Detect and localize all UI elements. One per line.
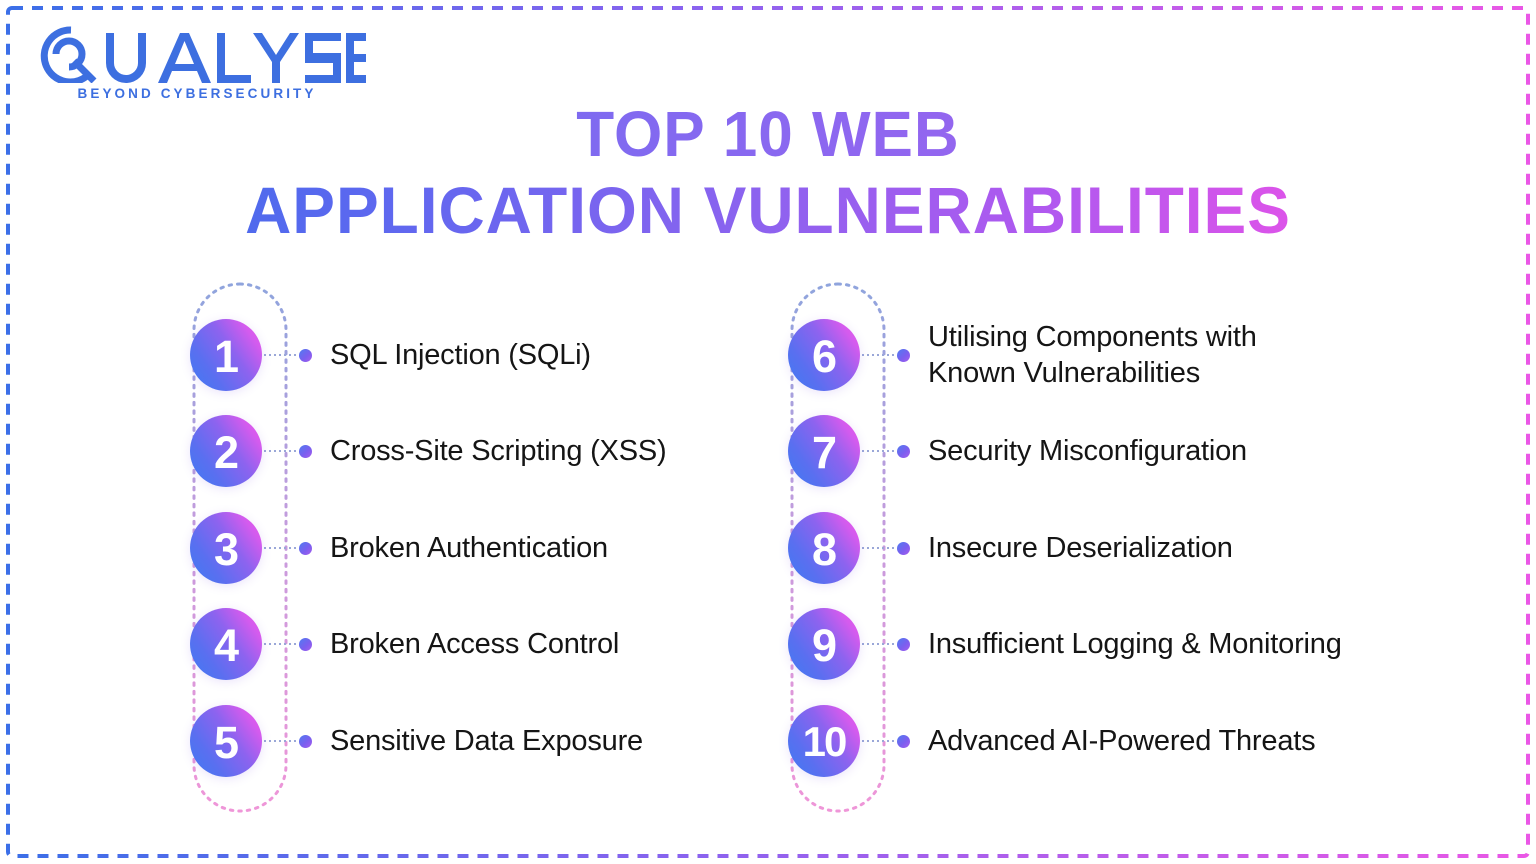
item-number: 7	[812, 430, 836, 475]
item-number: 3	[214, 527, 238, 572]
item-number: 5	[214, 720, 238, 765]
logo-wordmark	[34, 26, 374, 82]
connector-line	[264, 444, 312, 458]
item-label: Security Misconfiguration	[928, 433, 1247, 469]
connector-line	[862, 541, 910, 555]
connector-line	[264, 637, 312, 651]
list-item[interactable]: 3 Broken Authentication	[190, 511, 608, 585]
item-label: Advanced AI-Powered Threats	[928, 723, 1315, 759]
dotted-line-icon	[264, 643, 296, 645]
connector-line	[862, 734, 910, 748]
dotted-line-icon	[862, 450, 894, 452]
item-number-badge: 9	[788, 608, 860, 680]
bullet-dot-icon	[897, 349, 910, 362]
bullet-dot-icon	[897, 542, 910, 555]
item-number: 2	[214, 430, 238, 475]
brand-logo[interactable]: BEYOND CYBERSECURITY	[34, 26, 374, 101]
page-title-line-1: TOP 10 WEB	[23, 96, 1513, 172]
list-item[interactable]: 9 Insufficient Logging & Monitoring	[788, 607, 1342, 681]
list-item[interactable]: 1 SQL Injection (SQLi)	[190, 318, 591, 392]
item-label: Broken Access Control	[330, 626, 619, 662]
item-number: 8	[812, 527, 836, 572]
item-number-badge: 7	[788, 415, 860, 487]
dotted-line-icon	[862, 643, 894, 645]
connector-line	[264, 734, 312, 748]
item-number-badge: 4	[190, 608, 262, 680]
dotted-line-icon	[264, 450, 296, 452]
dotted-line-icon	[862, 547, 894, 549]
bullet-dot-icon	[299, 735, 312, 748]
item-number-badge: 10	[788, 705, 860, 777]
bullet-dot-icon	[897, 735, 910, 748]
dotted-line-icon	[264, 740, 296, 742]
item-number: 1	[214, 334, 238, 379]
page-title-line-2: APPLICATION VULNERABILITIES	[23, 172, 1513, 248]
list-item[interactable]: 8 Insecure Deserialization	[788, 511, 1233, 585]
list-item[interactable]: 10 Advanced AI-Powered Threats	[788, 704, 1315, 778]
item-number: 10	[803, 721, 846, 763]
page-title: TOP 10 WEB APPLICATION VULNERABILITIES	[0, 96, 1536, 248]
item-label: Sensitive Data Exposure	[330, 723, 643, 759]
bullet-dot-icon	[897, 638, 910, 651]
dotted-line-icon	[264, 354, 296, 356]
connector-line	[862, 637, 910, 651]
item-label: Insufficient Logging & Monitoring	[928, 626, 1342, 662]
left-column: 1 SQL Injection (SQLi) 2 Cross-Site Scri…	[190, 282, 790, 827]
item-label: Cross-Site Scripting (XSS)	[330, 433, 666, 469]
bullet-dot-icon	[897, 445, 910, 458]
connector-line	[264, 348, 312, 362]
item-number-badge: 6	[788, 319, 860, 391]
connector-line	[862, 444, 910, 458]
list-item[interactable]: 4 Broken Access Control	[190, 607, 619, 681]
item-label: SQL Injection (SQLi)	[330, 337, 591, 373]
poster-canvas: BEYOND CYBERSECURITY TOP 10 WEB APPLICAT…	[0, 0, 1536, 864]
list-item[interactable]: 6 Utilising Components with Known Vulner…	[788, 318, 1348, 392]
list-item[interactable]: 7 Security Misconfiguration	[788, 414, 1247, 488]
right-column: 6 Utilising Components with Known Vulner…	[788, 282, 1408, 827]
connector-line	[862, 348, 910, 362]
item-number: 6	[812, 334, 836, 379]
item-label: Broken Authentication	[330, 530, 608, 566]
bullet-dot-icon	[299, 638, 312, 651]
item-number-badge: 1	[190, 319, 262, 391]
item-number-badge: 8	[788, 512, 860, 584]
bullet-dot-icon	[299, 542, 312, 555]
dotted-line-icon	[862, 740, 894, 742]
dotted-line-icon	[264, 547, 296, 549]
item-label: Insecure Deserialization	[928, 530, 1233, 566]
item-number-badge: 3	[190, 512, 262, 584]
item-number: 9	[812, 623, 836, 668]
item-label: Utilising Components with Known Vulnerab…	[928, 319, 1348, 391]
item-number: 4	[214, 623, 238, 668]
vulnerability-list: 1 SQL Injection (SQLi) 2 Cross-Site Scri…	[0, 282, 1536, 827]
magnifier-q-icon	[34, 25, 366, 83]
bullet-dot-icon	[299, 349, 312, 362]
item-number-badge: 5	[190, 705, 262, 777]
item-number-badge: 2	[190, 415, 262, 487]
bullet-dot-icon	[299, 445, 312, 458]
connector-line	[264, 541, 312, 555]
list-item[interactable]: 5 Sensitive Data Exposure	[190, 704, 643, 778]
dotted-line-icon	[862, 354, 894, 356]
list-item[interactable]: 2 Cross-Site Scripting (XSS)	[190, 414, 666, 488]
